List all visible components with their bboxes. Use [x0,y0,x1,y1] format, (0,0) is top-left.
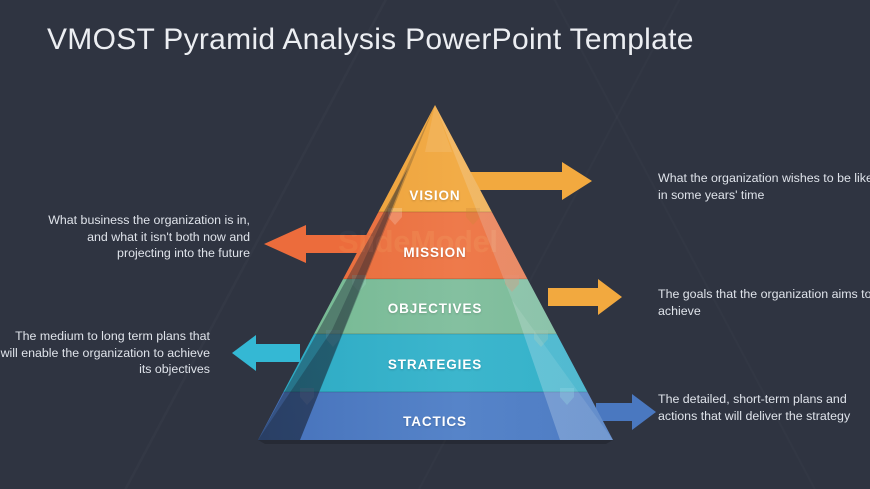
pyramid-level-label-mission: MISSION [403,245,466,260]
pyramid-level-label-objectives: OBJECTIVES [388,301,483,316]
pyramid-level-label-tactics: TACTICS [403,414,467,429]
description-objectives: The goals that the organization aims to … [658,286,870,319]
pyramid-base-shadow [258,440,613,444]
slide-canvas: VMOST Pyramid Analysis PowerPoint Templa… [0,0,870,489]
pyramid-level-label-strategies: STRATEGIES [388,357,482,372]
description-strategies: The medium to long term plans that will … [0,328,210,378]
description-mission: What business the organization is in, an… [35,212,250,262]
description-tactics: The detailed, short-term plans and actio… [658,391,870,424]
description-vision: What the organization wishes to be like … [658,170,870,203]
pyramid-level-label-vision: VISION [409,188,460,203]
vmost-pyramid-diagram: SlideModel VISION MISSION OBJECTIVES STR… [0,0,870,489]
